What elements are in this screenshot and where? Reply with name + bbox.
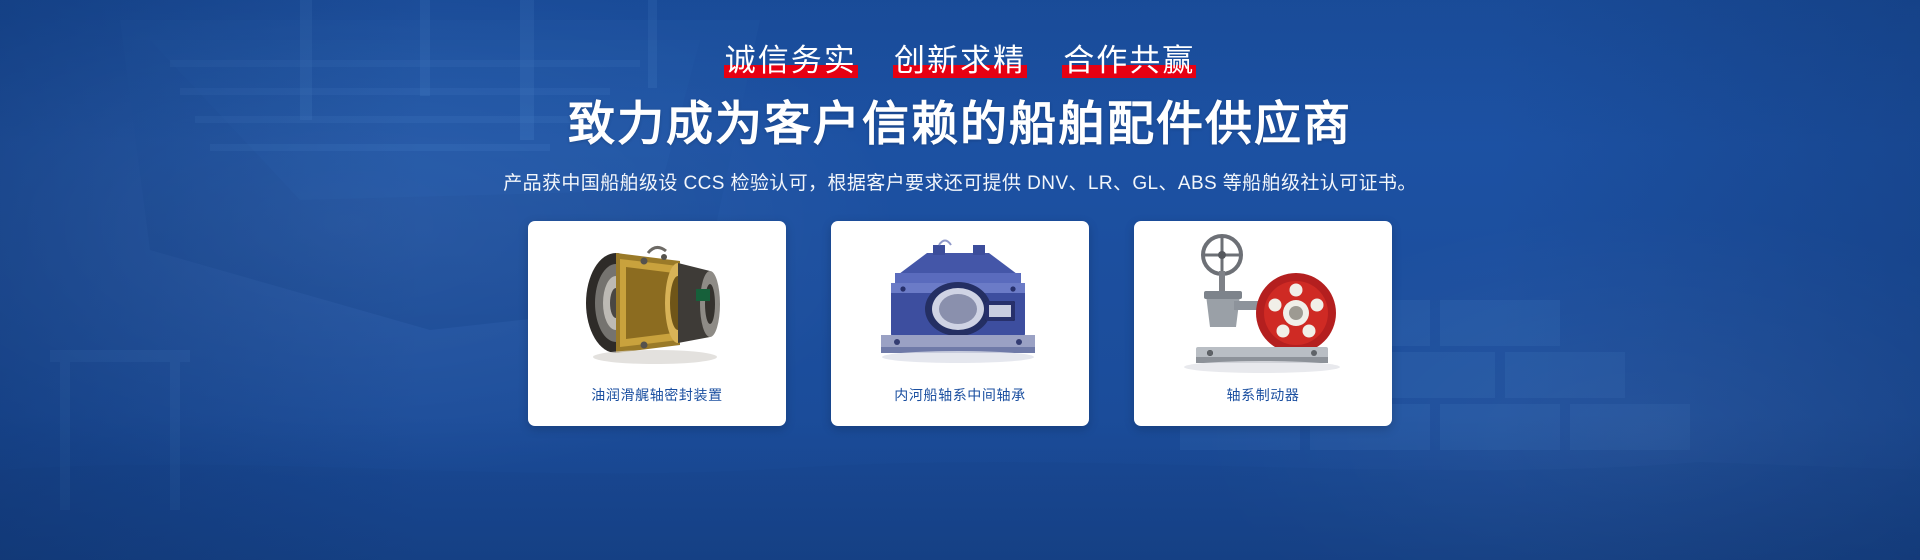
product-card[interactable]: 油润滑艉轴密封装置 (528, 221, 786, 426)
slogan-part-1: 诚信务实 (725, 45, 857, 76)
shaft-brake-photo (1148, 229, 1378, 377)
page-subtitle: 产品获中国船舶级设 CCS 检验认可，根据客户要求还可提供 DNV、LR、GL、… (503, 168, 1417, 195)
slogan: 诚信务实 创新求精 合作共赢 (725, 45, 1196, 76)
product-card-caption: 内河船轴系中间轴承 (894, 385, 1025, 405)
product-card[interactable]: 内河船轴系中间轴承 (831, 221, 1089, 426)
stern-tube-seal-photo (542, 229, 772, 377)
product-card-caption: 油润滑艉轴密封装置 (591, 385, 722, 405)
intermediate-bearing-photo (845, 229, 1075, 377)
product-card-caption: 轴系制动器 (1227, 385, 1300, 405)
hero-banner: 诚信务实 创新求精 合作共赢 致力成为客户信赖的船舶配件供应商 产品获中国船舶级… (0, 0, 1920, 560)
slogan-part-2: 创新求精 (894, 45, 1026, 76)
product-card-list: 油润滑艉轴密封装置 (528, 221, 1392, 426)
hero-content: 诚信务实 创新求精 合作共赢 致力成为客户信赖的船舶配件供应商 产品获中国船舶级… (0, 0, 1920, 560)
product-card[interactable]: 轴系制动器 (1134, 221, 1392, 426)
slogan-part-3: 合作共赢 (1063, 45, 1195, 76)
page-title: 致力成为客户信赖的船舶配件供应商 (568, 98, 1352, 150)
